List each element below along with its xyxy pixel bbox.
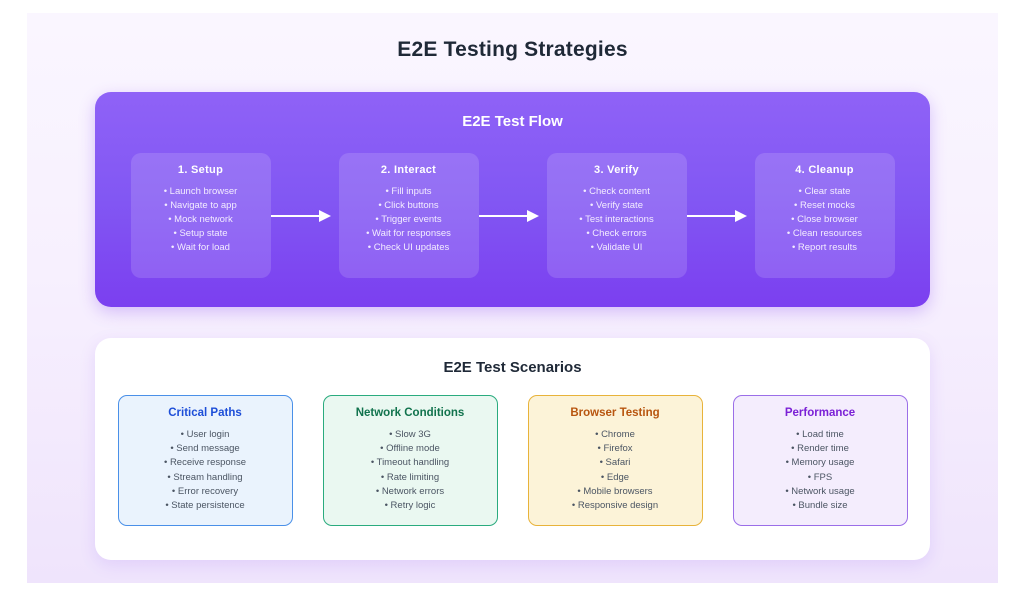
flow-step-item: • Launch browser [164,185,238,199]
arrow-head [527,210,539,222]
arrow-shaft [479,215,531,217]
scenario-card-item: • User login [181,428,230,442]
arrow-right-icon [271,208,339,224]
flow-panel: E2E Test Flow 1. Setup• Launch browser• … [95,92,930,307]
flow-step-item: • Wait for load [171,241,230,255]
scenario-card-title: Performance [785,407,855,419]
arrow-head [735,210,747,222]
flow-step-item: • Validate UI [591,241,643,255]
flow-step-item: • Mock network [168,213,233,227]
flow-step-item: • Reset mocks [794,199,855,213]
scenario-card-item: • Memory usage [786,456,855,470]
flow-step-item: • Wait for responses [366,227,451,241]
flow-step-title: 4. Cleanup [795,164,854,176]
scenario-card-item: • Offline mode [380,442,440,456]
flow-step-item: • Clear state [799,185,851,199]
scenario-card-item: • Render time [791,442,849,456]
flow-step-item: • Trigger events [375,213,441,227]
scenario-card[interactable]: Network Conditions• Slow 3G• Offline mod… [323,395,498,526]
flow-step-item: • Report results [792,241,857,255]
scenario-card[interactable]: Performance• Load time• Render time• Mem… [733,395,908,526]
scenario-cards-row: Critical Paths• User login• Send message… [95,395,930,526]
flow-step-item: • Fill inputs [385,185,431,199]
scenario-card-item: • Timeout handling [371,456,449,470]
page-canvas: E2E Testing Strategies E2E Test Flow 1. … [27,13,998,583]
scenario-card-item: • Safari [600,456,631,470]
scenario-card-item: • Mobile browsers [577,485,652,499]
scenario-card-item: • Stream handling [167,471,242,485]
flow-step-item: • Close browser [791,213,858,227]
flow-panel-title: E2E Test Flow [95,92,930,130]
scenario-card-item: • Send message [170,442,239,456]
scenario-card-item: • Firefox [598,442,633,456]
flow-step-card[interactable]: 4. Cleanup• Clear state• Reset mocks• Cl… [755,153,895,278]
scenario-card-item: • FPS [808,471,832,485]
flow-step-item: • Check errors [586,227,646,241]
flow-steps-row: 1. Setup• Launch browser• Navigate to ap… [95,148,930,283]
flow-step-list: • Fill inputs• Click buttons• Trigger ev… [366,185,451,255]
scenario-card[interactable]: Browser Testing• Chrome• Firefox• Safari… [528,395,703,526]
scenarios-panel: E2E Test Scenarios Critical Paths• User … [95,338,930,560]
arrow-shaft [271,215,323,217]
arrow-head [319,210,331,222]
flow-step-item: • Test interactions [579,213,653,227]
flow-step-card[interactable]: 1. Setup• Launch browser• Navigate to ap… [131,153,271,278]
flow-step-item: • Clean resources [787,227,862,241]
arrow-right-icon [479,208,547,224]
scenario-card-item: • Retry logic [385,499,436,513]
scenario-card-item: • Edge [601,471,629,485]
scenarios-panel-title: E2E Test Scenarios [95,338,930,376]
scenario-card-title: Network Conditions [356,407,465,419]
flow-step-item: • Check UI updates [368,241,449,255]
flow-step-list: • Check content• Verify state• Test inte… [579,185,653,255]
scenario-card-item: • Slow 3G [389,428,431,442]
flow-step-item: • Click buttons [378,199,438,213]
flow-step-item: • Verify state [590,199,643,213]
flow-step-title: 1. Setup [178,164,223,176]
scenario-card-item: • Bundle size [792,499,847,513]
flow-step-title: 3. Verify [594,164,639,176]
scenario-card-item: • Rate limiting [381,471,439,485]
arrow-shaft [687,215,739,217]
scenario-card-item: • Chrome [595,428,635,442]
flow-step-item: • Navigate to app [164,199,237,213]
scenario-card-item: • Error recovery [172,485,238,499]
scenario-card-item: • Network errors [376,485,444,499]
flow-step-card[interactable]: 3. Verify• Check content• Verify state• … [547,153,687,278]
flow-step-item: • Setup state [173,227,227,241]
scenario-card-item: • Responsive design [572,499,658,513]
arrow-right-icon [687,208,755,224]
scenario-card-item: • Receive response [164,456,246,470]
scenario-card-item: • Load time [796,428,844,442]
scenario-card-title: Critical Paths [168,407,242,419]
flow-step-list: • Clear state• Reset mocks• Close browse… [787,185,862,255]
flow-step-list: • Launch browser• Navigate to app• Mock … [164,185,238,255]
scenario-card-item: • State persistence [165,499,244,513]
flow-step-item: • Check content [583,185,650,199]
scenario-card[interactable]: Critical Paths• User login• Send message… [118,395,293,526]
flow-step-card[interactable]: 2. Interact• Fill inputs• Click buttons•… [339,153,479,278]
page-title: E2E Testing Strategies [27,38,998,62]
flow-step-title: 2. Interact [381,164,436,176]
scenario-card-item: • Network usage [785,485,854,499]
scenario-card-title: Browser Testing [570,407,659,419]
